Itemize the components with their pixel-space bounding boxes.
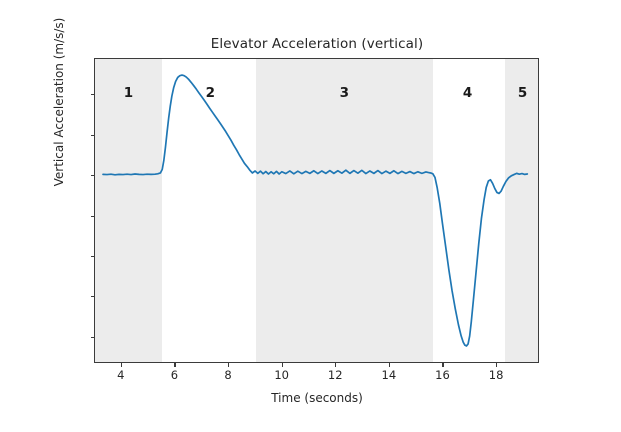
y-tick-mark xyxy=(91,216,95,217)
x-tick-label: 8 xyxy=(224,368,231,382)
x-tick-label: 10 xyxy=(274,368,289,382)
chart-title: Elevator Acceleration (vertical) xyxy=(94,36,540,52)
x-tick-label: 4 xyxy=(117,368,124,382)
phase-label-1: 1 xyxy=(124,85,133,101)
x-tick-mark xyxy=(496,363,497,367)
phase-label-5: 5 xyxy=(518,85,527,101)
x-tick-label: 6 xyxy=(171,368,178,382)
x-tick-mark xyxy=(282,363,283,367)
x-tick-mark xyxy=(389,363,390,367)
y-tick-mark xyxy=(91,296,95,297)
phase-label-2: 2 xyxy=(206,85,215,101)
x-axis-label: Time (seconds) xyxy=(94,391,540,405)
x-tick-label: 12 xyxy=(328,368,343,382)
x-tick-label: 18 xyxy=(489,368,504,382)
x-tick-mark xyxy=(174,363,175,367)
y-axis-label: Vertical Acceleration (m/s/s) xyxy=(52,0,66,257)
x-tick-mark xyxy=(335,363,336,367)
plot-area: 12345 xyxy=(94,58,539,363)
y-tick-mark xyxy=(91,135,95,136)
acceleration-curve xyxy=(95,59,538,362)
x-tick-mark xyxy=(121,363,122,367)
x-tick-label: 16 xyxy=(435,368,450,382)
phase-label-3: 3 xyxy=(340,85,349,101)
y-tick-mark xyxy=(91,337,95,338)
y-tick-mark xyxy=(91,256,95,257)
x-tick-label: 14 xyxy=(382,368,397,382)
phase-label-4: 4 xyxy=(463,85,472,101)
y-tick-mark xyxy=(91,94,95,95)
x-tick-mark xyxy=(228,363,229,367)
x-tick-mark xyxy=(442,363,443,367)
y-tick-mark xyxy=(91,175,95,176)
chart-figure: Elevator Acceleration (vertical) Vertica… xyxy=(0,0,621,432)
